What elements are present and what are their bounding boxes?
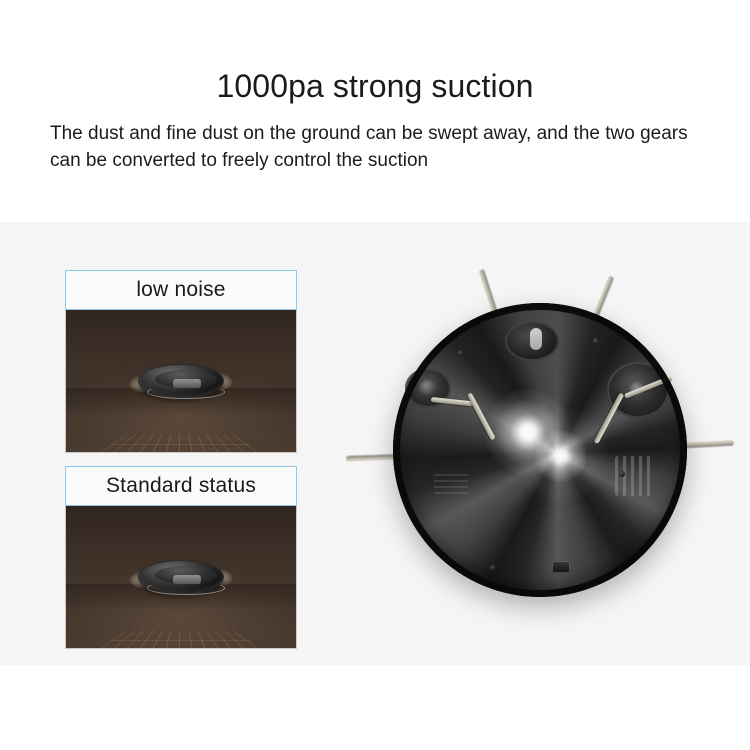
mini-robot-body — [138, 560, 224, 594]
disc-outer-edge — [393, 303, 687, 597]
comparison-panel-standard-status: Standard status — [65, 466, 297, 649]
panel-header-low-noise: low noise — [65, 270, 297, 310]
panel-label: low noise — [136, 278, 225, 302]
robot-base-disc — [393, 303, 687, 597]
panel-label: Standard status — [106, 474, 256, 498]
panel-photo-low-noise — [65, 310, 297, 453]
page-subtitle: The dust and fine dust on the ground can… — [50, 120, 718, 174]
hero-robot-vacuum-underside — [393, 303, 687, 597]
page-title: 1000pa strong suction — [0, 68, 750, 105]
comparison-panel-low-noise: low noise — [65, 270, 297, 453]
header-section: 1000pa strong suction The dust and fine … — [0, 0, 750, 222]
panel-photo-standard-status — [65, 506, 297, 649]
mini-robot-body — [138, 364, 224, 398]
mini-robot-rim — [147, 581, 225, 595]
footer-whitespace — [0, 665, 750, 750]
mini-robot-vacuum — [134, 360, 228, 402]
mini-robot-vacuum — [134, 556, 228, 598]
panel-header-standard-status: Standard status — [65, 466, 297, 506]
mini-robot-rim — [147, 385, 225, 399]
